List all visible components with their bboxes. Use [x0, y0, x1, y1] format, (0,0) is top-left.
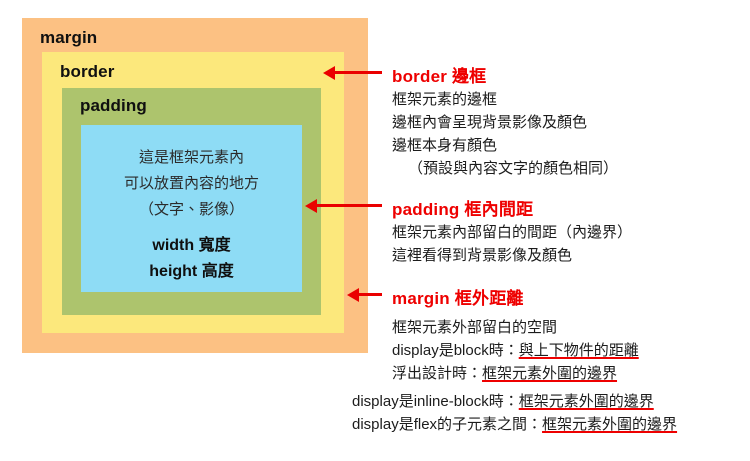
extra-line-1-underlined: 框架元素外圍的邊界: [519, 393, 654, 410]
extra-line-2-prefix: display是flex的子元素之間：: [352, 416, 542, 433]
border-annotation-heading: border 邊框: [392, 62, 486, 87]
margin-annotation-heading: margin 框外距離: [392, 284, 524, 309]
extra-line-1-prefix: display是inline-block時：: [352, 393, 519, 410]
content-box-text: 這是框架元素內 可以放置內容的地方 （文字、影像） width 寬度 heigh…: [81, 145, 302, 285]
border-annotation-line-4: （預設與內容文字的顏色相同）: [392, 157, 618, 180]
left-arrow-icon-margin: [358, 293, 382, 296]
padding-box-label: padding: [80, 96, 147, 116]
content-line-1: 這是框架元素內: [81, 145, 302, 171]
margin-box-label: margin: [40, 28, 97, 48]
margin-line-3-underlined: 框架元素外圍的邊界: [482, 365, 617, 382]
margin-line-3-prefix: 浮出設計時：: [392, 365, 482, 382]
padding-annotation-body: 框架元素內部留白的間距（內邊界） 這裡看得到背景影像及顏色: [392, 221, 632, 267]
margin-annotation-line-1: 框架元素外部留白的空間: [392, 316, 639, 339]
content-line-2: 可以放置內容的地方: [81, 171, 302, 197]
content-line-3: （文字、影像）: [81, 197, 302, 223]
content-width-line: width 寬度: [81, 233, 302, 259]
extra-note-line-1: display是inline-block時：框架元素外圍的邊界: [352, 390, 677, 413]
padding-annotation-line-2: 這裡看得到背景影像及顏色: [392, 244, 632, 267]
margin-line-2-prefix: display是block時：: [392, 342, 519, 359]
extra-notes-body: display是inline-block時：框架元素外圍的邊界 display是…: [352, 390, 677, 436]
border-box-label: border: [60, 62, 114, 82]
margin-annotation-body: 框架元素外部留白的空間 display是block時：與上下物件的距離 浮出設計…: [392, 316, 639, 385]
extra-line-2-underlined: 框架元素外圍的邊界: [542, 416, 677, 433]
content-spacer: [81, 223, 302, 233]
margin-annotation-line-3: 浮出設計時：框架元素外圍的邊界: [392, 362, 639, 385]
padding-annotation-heading: padding 框內間距: [392, 195, 533, 220]
content-height-line: height 高度: [81, 259, 302, 285]
padding-annotation-line-1: 框架元素內部留白的間距（內邊界）: [392, 221, 632, 244]
margin-box: margin border padding 這是框架元素內 可以放置內容的地方 …: [22, 18, 368, 353]
extra-note-line-2: display是flex的子元素之間：框架元素外圍的邊界: [352, 413, 677, 436]
box-model-diagram-page: margin border padding 這是框架元素內 可以放置內容的地方 …: [0, 0, 750, 461]
padding-box: padding 這是框架元素內 可以放置內容的地方 （文字、影像） width …: [62, 88, 321, 315]
left-arrow-icon-border: [334, 71, 382, 74]
margin-annotation-line-2: display是block時：與上下物件的距離: [392, 339, 639, 362]
border-annotation-line-3: 邊框本身有顏色: [392, 134, 618, 157]
border-box: border padding 這是框架元素內 可以放置內容的地方 （文字、影像）…: [42, 52, 344, 333]
content-box: 這是框架元素內 可以放置內容的地方 （文字、影像） width 寬度 heigh…: [81, 125, 302, 292]
border-annotation-line-2: 邊框內會呈現背景影像及顏色: [392, 111, 618, 134]
margin-line-2-underlined: 與上下物件的距離: [519, 342, 639, 359]
border-annotation-body: 框架元素的邊框 邊框內會呈現背景影像及顏色 邊框本身有顏色 （預設與內容文字的顏…: [392, 88, 618, 180]
border-annotation-line-1: 框架元素的邊框: [392, 88, 618, 111]
left-arrow-icon-padding: [316, 204, 382, 207]
